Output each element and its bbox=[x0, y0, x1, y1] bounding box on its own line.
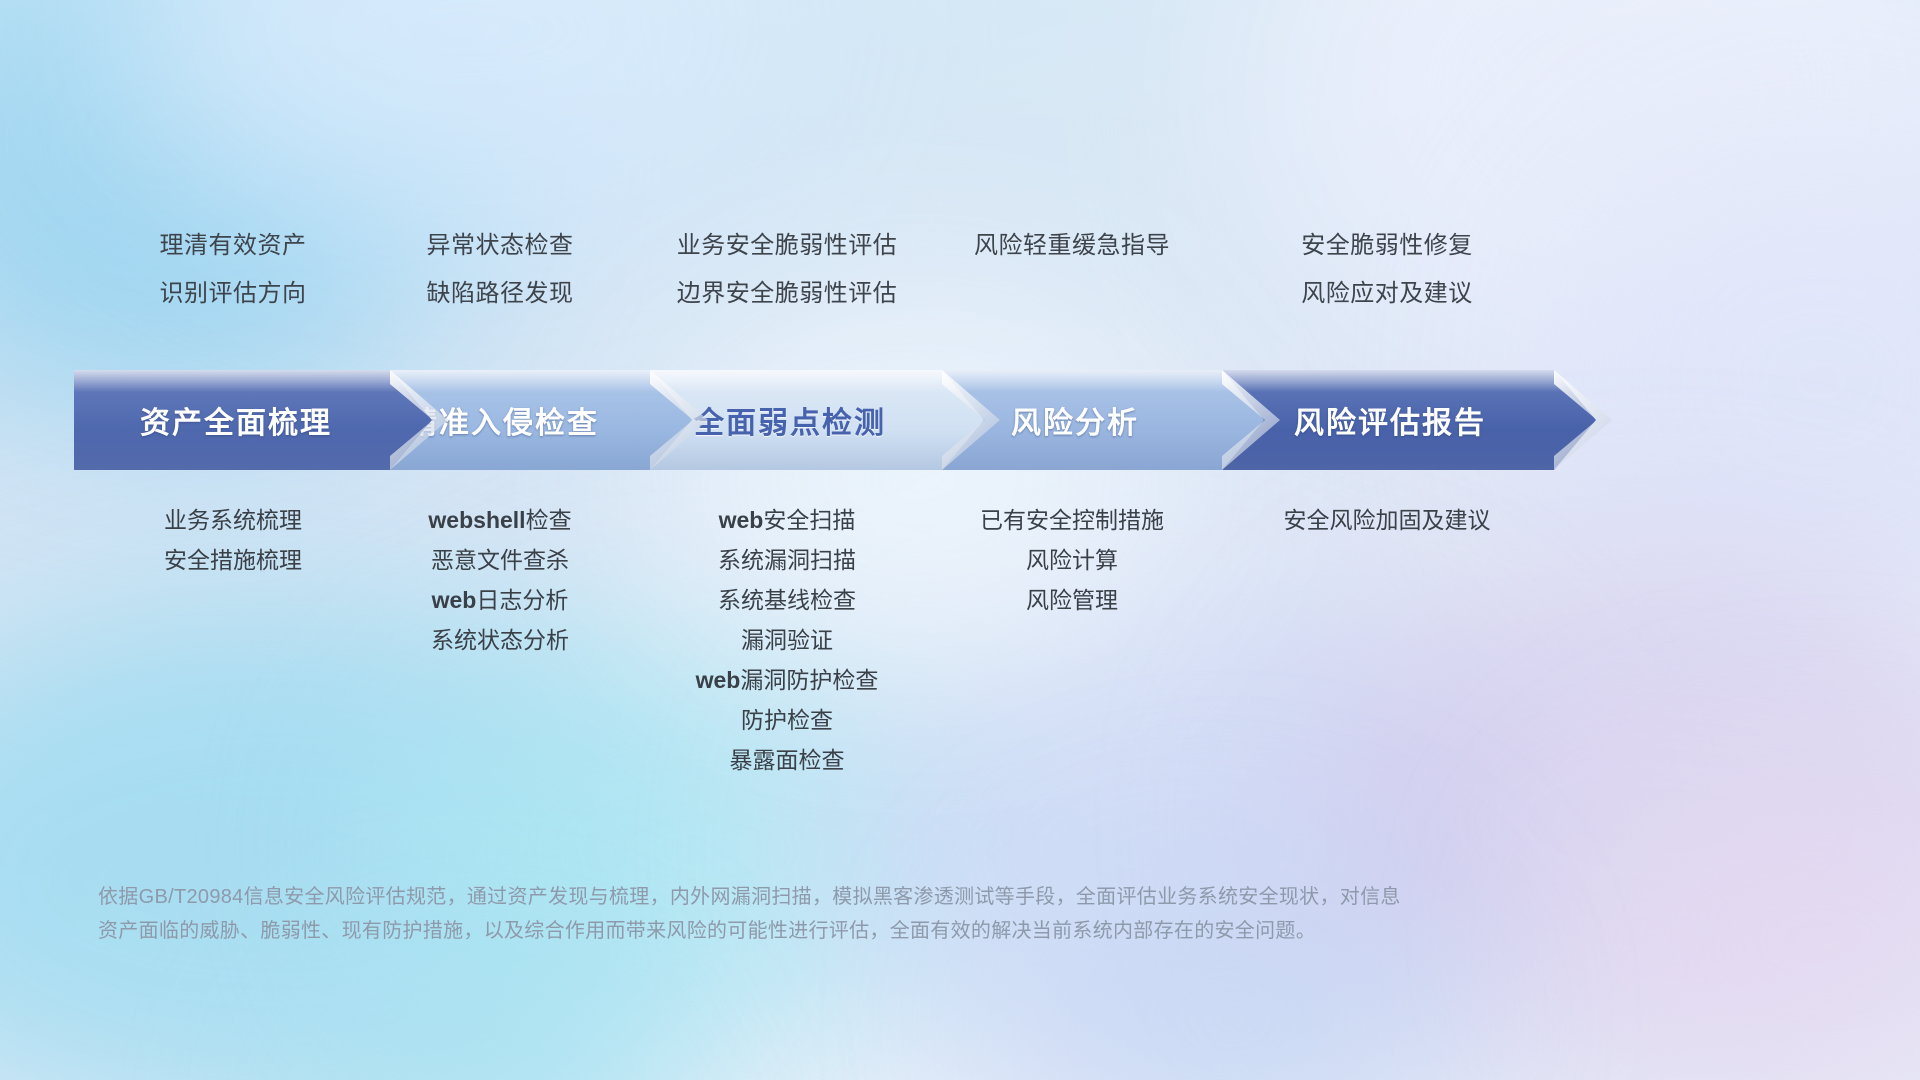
items-risk-analysis: 已有安全控制措施风险计算风险管理 bbox=[924, 500, 1220, 620]
top-notes-asset-sorting: 理清有效资产识别评估方向 bbox=[78, 222, 388, 318]
bottom-items-row: 业务系统梳理安全措施梳理webshell检查恶意文件查杀web日志分析系统状态分… bbox=[0, 500, 1920, 820]
stage-item: 系统状态分析 bbox=[352, 620, 648, 660]
top-notes-weakness-detection: 业务安全脆弱性评估边界安全脆弱性评估 bbox=[634, 222, 940, 318]
items-intrusion-check: webshell检查恶意文件查杀web日志分析系统状态分析 bbox=[352, 500, 648, 660]
top-note: 理清有效资产 bbox=[78, 222, 388, 270]
footer-description: 依据GB/T20984信息安全风险评估规范，通过资产发现与梳理，内外网漏洞扫描，… bbox=[98, 880, 1830, 948]
top-notes-intrusion-check: 异常状态检查缺陷路径发现 bbox=[352, 222, 648, 318]
top-note: 异常状态检查 bbox=[352, 222, 648, 270]
top-note: 业务安全脆弱性评估 bbox=[634, 222, 940, 270]
stage-item: 暴露面检查 bbox=[634, 740, 940, 780]
stage-item: 风险管理 bbox=[924, 580, 1220, 620]
top-note: 识别评估方向 bbox=[78, 270, 388, 318]
top-notes-assessment-report: 安全脆弱性修复风险应对及建议 bbox=[1222, 222, 1552, 318]
top-note: 风险轻重缓急指导 bbox=[924, 222, 1220, 270]
top-note: 安全脆弱性修复 bbox=[1222, 222, 1552, 270]
stage-item: 漏洞验证 bbox=[634, 620, 940, 660]
stage-item: 安全风险加固及建议 bbox=[1222, 500, 1552, 540]
stage-item: 安全措施梳理 bbox=[78, 540, 388, 580]
top-note: 边界安全脆弱性评估 bbox=[634, 270, 940, 318]
top-notes-row: 理清有效资产识别评估方向异常状态检查缺陷路径发现业务安全脆弱性评估边界安全脆弱性… bbox=[0, 222, 1920, 342]
stage-item: web日志分析 bbox=[352, 580, 648, 620]
stage-title: 风险评估报告 bbox=[1294, 398, 1486, 442]
items-assessment-report: 安全风险加固及建议 bbox=[1222, 500, 1552, 540]
stage-item: 系统基线检查 bbox=[634, 580, 940, 620]
footer-line-1: 依据GB/T20984信息安全风险评估规范，通过资产发现与梳理，内外网漏洞扫描，… bbox=[98, 880, 1830, 914]
items-asset-sorting: 业务系统梳理安全措施梳理 bbox=[78, 500, 388, 580]
stage-title: 精准入侵检查 bbox=[407, 398, 599, 442]
stage-item: 已有安全控制措施 bbox=[924, 500, 1220, 540]
stage-title: 资产全面梳理 bbox=[140, 398, 332, 442]
stage-arrow-asset-sorting[interactable]: 资产全面梳理 bbox=[74, 370, 432, 470]
stage-item: web安全扫描 bbox=[634, 500, 940, 540]
stage-item: 业务系统梳理 bbox=[78, 500, 388, 540]
diagram-canvas: 理清有效资产识别评估方向异常状态检查缺陷路径发现业务安全脆弱性评估边界安全脆弱性… bbox=[0, 0, 1920, 1080]
items-weakness-detection: web安全扫描系统漏洞扫描系统基线检查漏洞验证web漏洞防护检查防护检查暴露面检… bbox=[634, 500, 940, 780]
stage-item: webshell检查 bbox=[352, 500, 648, 540]
process-arrow-row: 资产全面梳理精准入侵检查全面弱点检测风险分析风险评估报告 bbox=[0, 370, 1920, 470]
stage-item: 防护检查 bbox=[634, 700, 940, 740]
stage-item: 系统漏洞扫描 bbox=[634, 540, 940, 580]
stage-title: 风险分析 bbox=[1011, 398, 1139, 442]
stage-item: web漏洞防护检查 bbox=[634, 660, 940, 700]
top-notes-risk-analysis: 风险轻重缓急指导 bbox=[924, 222, 1220, 270]
top-note: 风险应对及建议 bbox=[1222, 270, 1552, 318]
stage-arrow-assessment-report[interactable]: 风险评估报告 bbox=[1218, 370, 1596, 470]
top-note: 缺陷路径发现 bbox=[352, 270, 648, 318]
footer-line-2: 资产面临的威胁、脆弱性、现有防护措施，以及综合作用而带来风险的可能性进行评估，全… bbox=[98, 914, 1830, 948]
stage-item: 风险计算 bbox=[924, 540, 1220, 580]
stage-item: 恶意文件查杀 bbox=[352, 540, 648, 580]
stage-title: 全面弱点检测 bbox=[694, 398, 886, 442]
